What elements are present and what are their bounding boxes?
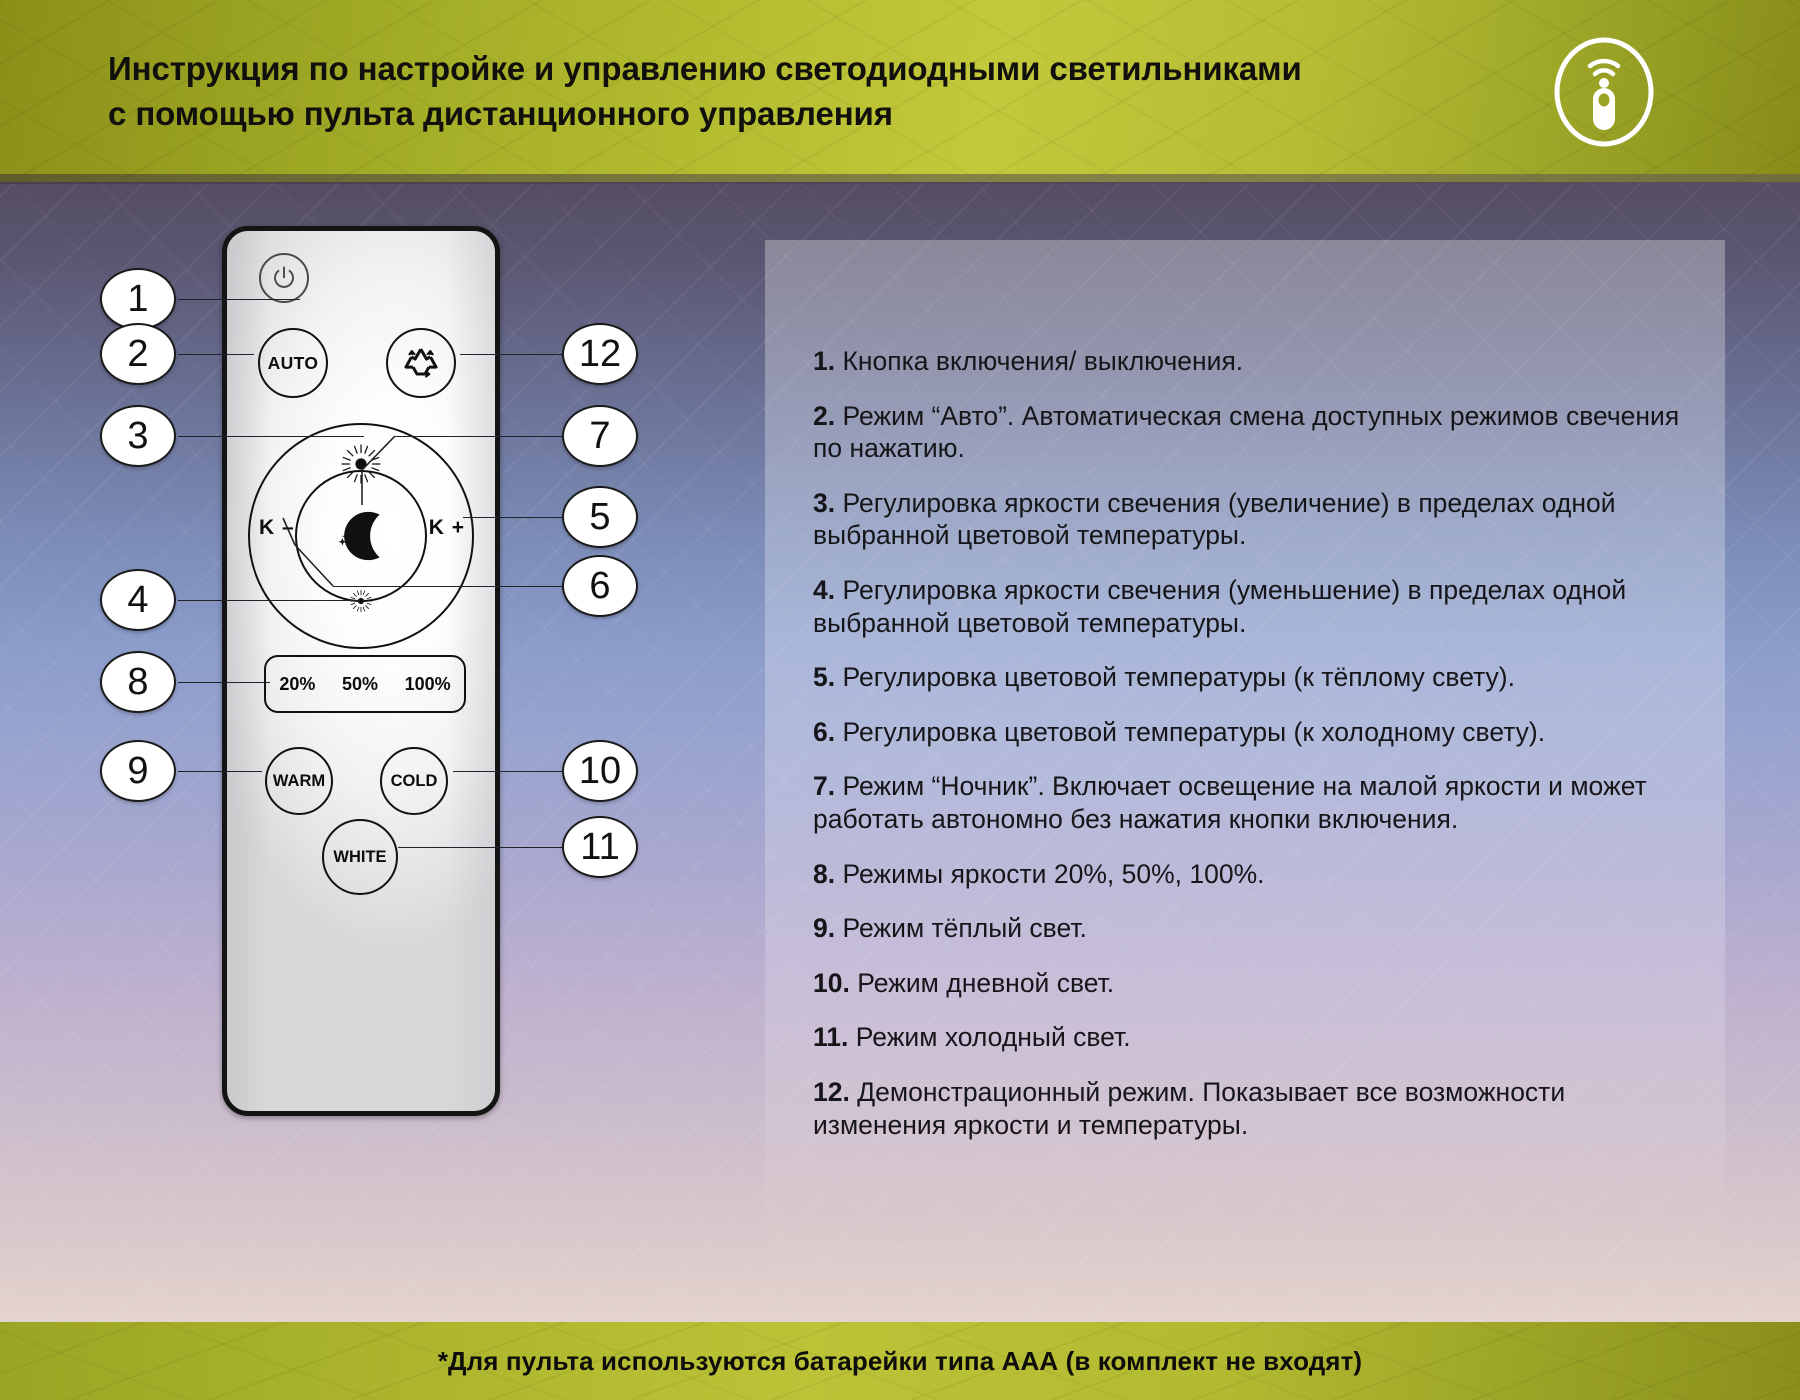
callout-label: 5 [589,496,610,539]
color-temp-warm-button[interactable]: K – [259,516,295,540]
callout-label: 8 [127,661,148,704]
callout-label: 2 [127,333,148,376]
list-item: 12. Демонстрационный режим. Показывает в… [813,1076,1693,1141]
list-item-text: Регулировка яркости свечения (уменьшение… [813,575,1626,638]
list-item-number: 4. [813,575,835,605]
list-item-number: 2. [813,401,835,431]
leader-line-4 [178,600,360,601]
battery-note: *Для пульта используются батарейки типа … [0,1322,1800,1400]
list-item: 10. Режим дневной свет. [813,967,1693,1000]
leader-line-1 [178,299,300,300]
leader-line-11 [398,847,568,848]
callout-label: 12 [579,333,621,376]
list-item: 7. Режим “Ночник”. Включает освещение на… [813,770,1693,835]
callout-label: 4 [127,579,148,622]
brightness-20-label[interactable]: 20% [279,674,315,695]
leader-line-12 [460,354,568,355]
brightness-50-label[interactable]: 50% [342,674,378,695]
list-item: 2. Режим “Авто”. Автоматическая смена до… [813,400,1693,465]
callout-2[interactable]: 2 [100,323,176,385]
power-icon [269,263,299,293]
brightness-100-label[interactable]: 100% [405,674,451,695]
callout-9[interactable]: 9 [100,740,176,802]
warm-light-button[interactable]: WARM [265,747,333,815]
list-item-number: 9. [813,913,835,943]
callout-label: 1 [127,278,148,321]
leader-line-2 [178,354,254,355]
instructions-list: 1. Кнопка включения/ выключения. 2. Режи… [813,345,1693,1163]
list-item-text: Демонстрационный режим. Показывает все в… [813,1077,1565,1140]
list-item-text: Регулировка цветовой температуры (к холо… [835,717,1545,747]
leader-line-6 [333,586,568,587]
moon-stars-icon [321,496,401,576]
color-temp-cold-button[interactable]: K + [429,516,465,540]
callout-label: 3 [127,415,148,458]
list-item: 1. Кнопка включения/ выключения. [813,345,1693,378]
cold-light-button[interactable]: COLD [380,747,448,815]
callout-label: 10 [579,750,621,793]
leader-line-3 [178,436,364,437]
callout-label: 6 [589,565,610,608]
list-item: 6. Регулировка цветовой температуры (к х… [813,716,1693,749]
list-item: 5. Регулировка цветовой температуры (к т… [813,661,1693,694]
list-item-number: 5. [813,662,835,692]
list-item: 8. Режимы яркости 20%, 50%, 100%. [813,858,1693,891]
remote-control-body: AUTO [222,226,500,1116]
callout-label: 7 [589,415,610,458]
list-item-text: Режим холодный свет. [848,1022,1130,1052]
list-item-number: 7. [813,771,835,801]
list-item-text: Регулировка цветовой температуры (к тёпл… [835,662,1515,692]
callout-4[interactable]: 4 [100,569,176,631]
white-button-label: WHITE [333,848,386,867]
list-item: 4. Регулировка яркости свечения (уменьше… [813,574,1693,639]
list-item-number: 6. [813,717,835,747]
list-item-text: Режим “Авто”. Автоматическая смена досту… [813,401,1679,464]
infographic-page: Инструкция по настройке и управлению све… [0,0,1800,1400]
list-item: 9. Режим тёплый свет. [813,912,1693,945]
list-item-text: Режим “Ночник”. Включает освещение на ма… [813,771,1647,834]
list-item-number: 11. [813,1022,848,1052]
auto-button[interactable]: AUTO [258,328,328,398]
list-item-text: Режим дневной свет. [850,968,1114,998]
list-item-text: Регулировка яркости свечения (увеличение… [813,488,1616,551]
list-item-number: 8. [813,859,835,889]
remote-control-signal-icon [1548,36,1660,148]
auto-button-label: AUTO [268,353,319,374]
brightness-down-button[interactable] [349,589,373,613]
cold-button-label: COLD [391,772,438,791]
list-item-number: 3. [813,488,835,518]
header-divider [0,174,1800,184]
warm-button-label: WARM [273,772,325,791]
leader-line-7 [395,436,568,437]
power-button[interactable] [259,253,309,303]
callout-8[interactable]: 8 [100,651,176,713]
callout-5[interactable]: 5 [562,486,638,548]
leader-line-8 [178,682,270,683]
list-item: 3. Регулировка яркости свечения (увеличе… [813,487,1693,552]
leader-line-9 [178,771,262,772]
callout-12[interactable]: 12 [562,323,638,385]
callout-label: 9 [127,750,148,793]
list-item-text: Режим тёплый свет. [835,913,1087,943]
sun-dim-icon [349,589,373,613]
header-banner: Инструкция по настройке и управлению све… [0,0,1800,182]
list-item-text: Кнопка включения/ выключения. [835,346,1243,376]
list-item-number: 10. [813,968,850,998]
callout-10[interactable]: 10 [562,740,638,802]
leader-line-10 [453,771,568,772]
leader-line-5 [463,517,568,518]
footer-banner: *Для пульта используются батарейки типа … [0,1322,1800,1400]
page-title: Инструкция по настройке и управлению све… [108,46,1308,136]
list-item-text: Режимы яркости 20%, 50%, 100%. [835,859,1264,889]
callout-3[interactable]: 3 [100,405,176,467]
brightness-levels-bar[interactable]: 20% 50% 100% [264,655,466,713]
callout-11[interactable]: 11 [562,816,638,878]
demo-mode-button[interactable] [386,328,456,398]
night-mode-button[interactable] [295,470,427,602]
list-item-number: 1. [813,346,835,376]
list-item-number: 12. [813,1077,850,1107]
white-light-button[interactable]: WHITE [322,819,398,895]
callout-label: 11 [580,826,619,869]
callout-7[interactable]: 7 [562,405,638,467]
callout-1[interactable]: 1 [100,268,176,330]
callout-6[interactable]: 6 [562,555,638,617]
recycle-loop-icon [398,340,444,386]
list-item: 11. Режим холодный свет. [813,1021,1693,1054]
